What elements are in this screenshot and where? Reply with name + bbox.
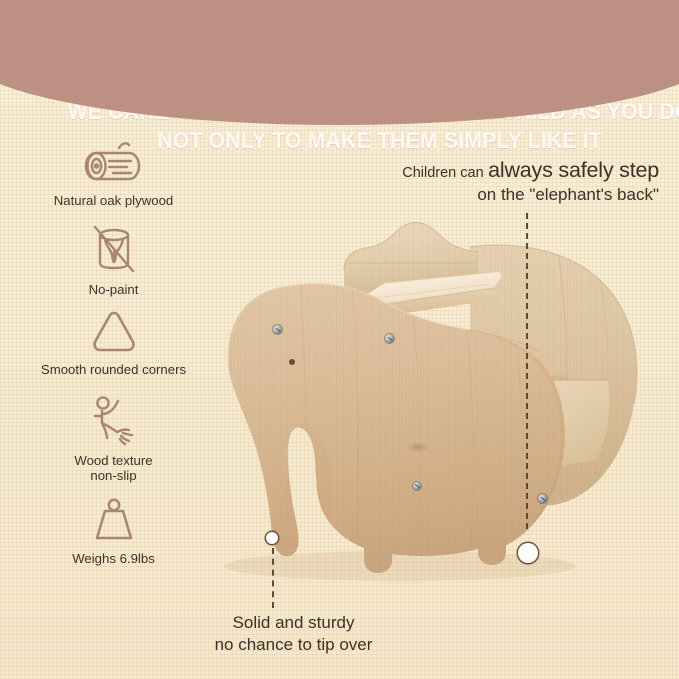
annotation-top-second-line: on the "elephant's back" <box>319 184 659 207</box>
feature-label: Weighs 6.9lbs <box>72 551 155 567</box>
product-top-step <box>339 272 501 323</box>
rear-foot-contact-point <box>518 543 538 563</box>
feature-list: Natural oak plywood No-paint <box>26 140 201 578</box>
banner-line-2: NOT ONLY TO MAKE THEM SIMPLY LIKE IT <box>157 127 602 156</box>
elephant-eye <box>289 359 295 365</box>
feature-item-natural-oak-plywood: Natural oak plywood <box>26 140 201 209</box>
no-paint-bucket-icon <box>87 221 141 275</box>
product-back-rest-panel <box>330 215 495 310</box>
annotation-top-emphasis: always safely step <box>488 158 659 182</box>
rounded-triangle-icon <box>87 309 141 355</box>
feature-label: No-paint <box>89 282 139 298</box>
screw-head-lower-left <box>413 482 421 490</box>
annotation-top-lead: Children can <box>402 165 483 181</box>
product-rear-lower-step <box>500 370 630 480</box>
leader-line-top <box>526 213 528 529</box>
feature-label: Wood texture non-slip <box>74 453 152 484</box>
screw-head-upper-right <box>385 334 394 343</box>
feature-item-smooth-rounded-corners: Smooth rounded corners <box>26 309 201 378</box>
weight-icon <box>88 496 140 544</box>
feature-label: Smooth rounded corners <box>41 362 186 378</box>
annotation-bottom-line-2: no chance to tip over <box>186 634 401 656</box>
feature-label: Natural oak plywood <box>54 193 174 209</box>
leader-line-bottom <box>272 548 274 608</box>
header-banner <box>0 0 679 125</box>
feature-item-weighs: Weighs 6.9lbs <box>26 496 201 567</box>
log-icon <box>83 140 145 186</box>
annotation-top: Children can always safely step on the "… <box>319 158 659 207</box>
annotation-bottom: Solid and sturdy no chance to tip over <box>186 612 401 657</box>
annotation-bottom-line-1: Solid and sturdy <box>186 612 401 634</box>
feature-item-no-paint: No-paint <box>26 221 201 298</box>
slipping-person-icon <box>87 390 141 446</box>
product-rear-panel <box>440 220 670 520</box>
feature-item-wood-texture-non-slip: Wood texture non-slip <box>26 390 201 484</box>
front-foot-contact-point <box>266 532 278 544</box>
screw-head-lower-right <box>538 494 547 503</box>
screw-head-upper-left <box>273 325 282 334</box>
infographic-canvas: WE CARE ABOUT THE SAFETY OF YOUR CHILD A… <box>0 0 679 679</box>
